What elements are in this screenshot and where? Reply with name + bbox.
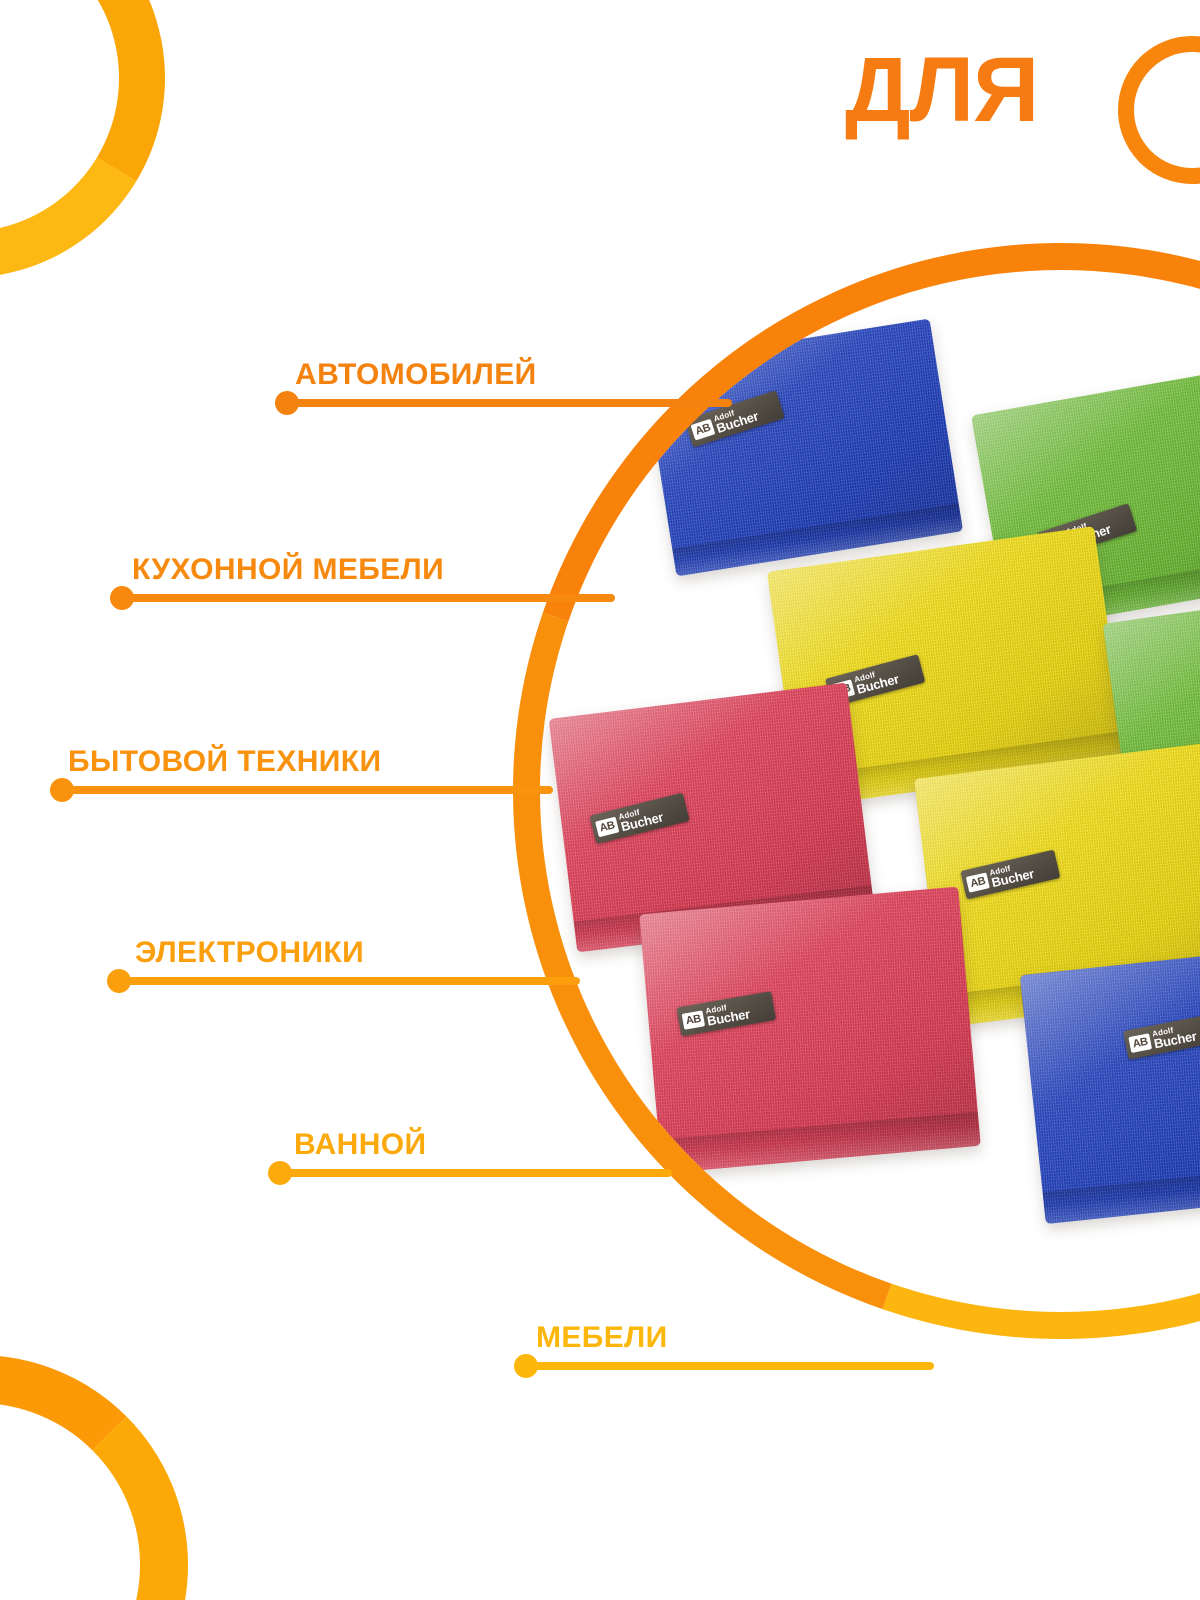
callout-leader-line	[276, 1169, 672, 1177]
callout-label: БЫТОВОЙ ТЕХНИКИ	[68, 745, 381, 779]
callout-row[interactable]: МЕБЕЛИ	[0, 1322, 1200, 1370]
page-title: ДЛЯ	[845, 38, 1038, 143]
callout-bullet-icon	[268, 1161, 292, 1185]
callout-leader-line	[522, 1362, 934, 1370]
callout-label: МЕБЕЛИ	[536, 1321, 668, 1355]
callout-row[interactable]: АВТОМОБИЛЕЙ	[0, 359, 1200, 407]
blue-cloth-top: ABAdolfBucher	[643, 319, 963, 577]
callout-row[interactable]: ВАННОЙ	[0, 1129, 1200, 1177]
brand-monogram-icon: AB	[1128, 1033, 1152, 1053]
brand-monogram-icon: AB	[966, 872, 990, 892]
brand-wordmark: AdolfBucher	[618, 803, 665, 833]
callout-leader-line	[58, 786, 553, 794]
brand-wordmark: AdolfBucher	[713, 402, 760, 434]
callout-bullet-icon	[50, 778, 74, 802]
callout-label: КУХОННОЙ МЕБЕЛИ	[132, 553, 444, 587]
callout-bullet-icon	[107, 969, 131, 993]
quarter-ring-icon-top-left	[0, 0, 207, 320]
brand-wordmark: AdolfBucher	[1151, 1022, 1197, 1050]
brand-tag: ABAdolfBucher	[960, 850, 1060, 900]
brand-wordmark: AdolfBucher	[705, 1000, 751, 1027]
callout-leader-line	[115, 977, 580, 985]
callout-row[interactable]: БЫТОВОЙ ТЕХНИКИ	[0, 746, 1200, 794]
callout-label: ВАННОЙ	[294, 1128, 426, 1162]
callout-label: АВТОМОБИЛЕЙ	[295, 358, 537, 392]
quarter-ring-icon-bottom-left	[0, 1355, 188, 1600]
circle-outline-icon	[1118, 36, 1200, 184]
callout-label: ЭЛЕКТРОНИКИ	[135, 936, 364, 970]
brand-tag: ABAdolfBucher	[1123, 1013, 1200, 1060]
brand-monogram-icon: AB	[595, 816, 619, 837]
callout-bullet-icon	[275, 391, 299, 415]
callout-bullet-icon	[514, 1354, 538, 1378]
callout-row[interactable]: КУХОННОЙ МЕБЕЛИ	[0, 554, 1200, 602]
callout-leader-line	[118, 594, 615, 602]
brand-wordmark: AdolfBucher	[989, 860, 1035, 889]
brand-monogram-icon: AB	[682, 1010, 705, 1029]
callout-leader-line	[283, 399, 732, 407]
callout-row[interactable]: ЭЛЕКТРОНИКИ	[0, 937, 1200, 985]
callout-bullet-icon	[110, 586, 134, 610]
brand-tag: ABAdolfBucher	[676, 991, 776, 1036]
infographic-poster: ABAdolfBucherABAdolfBucherABAdolfBucherA…	[0, 0, 1200, 1600]
brand-monogram-icon: AB	[690, 418, 715, 440]
brand-wordmark: AdolfBucher	[853, 665, 900, 695]
brand-tag: ABAdolfBucher	[589, 793, 689, 844]
